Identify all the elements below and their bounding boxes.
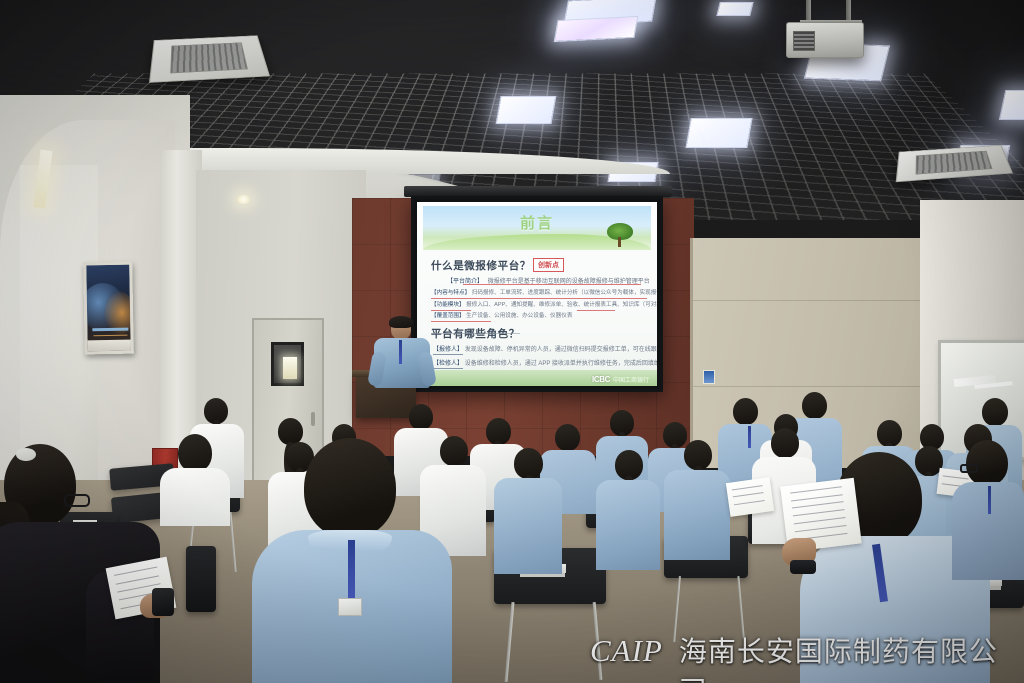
torso — [664, 470, 730, 560]
audience-member — [664, 440, 730, 560]
torso — [160, 468, 230, 526]
slide-footer-bar: ICBC 中国工商银行 — [417, 370, 657, 386]
head — [409, 404, 433, 430]
audience-member — [596, 450, 660, 570]
framed-poster — [83, 262, 134, 355]
lanyard — [748, 426, 751, 448]
slide-callout-badge: 创新点 — [533, 258, 564, 272]
head — [304, 438, 396, 538]
slide-role-line: 【报修人】 发现设备故障、停机异常的人员，通过微信扫码提交报修工单，可在线跟踪处… — [433, 344, 657, 353]
door-vision-panel — [271, 342, 304, 386]
phone-device[interactable] — [152, 588, 174, 616]
slide-heading-2: 平台有哪些角色？ — [431, 326, 520, 341]
audience-member — [160, 434, 230, 526]
slide-banner-title: 前言 — [520, 212, 554, 233]
head — [178, 434, 212, 472]
presenter-lanyard — [399, 340, 402, 364]
handout-paper[interactable] — [726, 477, 774, 517]
slide-content: 前言 什么是微报修平台？ 创新点 【平台简介】 微报修平台是基于移动互联网的设备… — [417, 202, 657, 386]
slide-body-line: 【内容与特点】 扫码报修、工单流转、进度跟踪、统计分析（以微信公众号为载体，实现… — [431, 290, 657, 296]
slide-body-text: 生产设备、公用设施、办公设备、仪器仪表 — [466, 313, 572, 319]
torso — [494, 478, 562, 574]
slide-body-mark: 【功能模块】 — [431, 302, 465, 308]
slide-role-name: 【检修人】 — [433, 361, 463, 369]
head — [555, 424, 580, 451]
chair[interactable] — [186, 546, 216, 612]
presenter — [372, 318, 432, 388]
ac-cassette-unit — [149, 35, 270, 83]
watermark-chinese: 海南长安国际制药有限公司 — [679, 630, 1024, 683]
poster-text-block — [92, 328, 128, 332]
watermark-latin: CAIP — [590, 633, 663, 669]
lanyard — [988, 486, 991, 514]
ac-grille — [170, 42, 249, 73]
badge — [338, 598, 362, 616]
slide-body-mark: 【覆盖范围】 — [431, 313, 465, 319]
head — [982, 398, 1008, 426]
audience-member-right-edge — [952, 440, 1024, 580]
slide-underline — [431, 321, 491, 322]
poster-caption-bar — [88, 340, 131, 352]
presenter-hair — [389, 316, 413, 328]
hair-tie-icon — [16, 448, 36, 461]
slide-body-text: 扫码报修、工单流转、进度跟踪、统计分析（以微信公众号为载体，实现报修、派单、维修… — [472, 290, 657, 296]
slide-banner: 前言 — [423, 206, 651, 250]
projector-lens — [793, 31, 815, 51]
slide-underline — [463, 284, 641, 285]
eyeglasses-icon — [64, 494, 90, 507]
slide-heading-1: 什么是微报修平台？ — [431, 258, 531, 273]
slide-underline — [577, 310, 615, 311]
slide-role-name: 【报修人】 — [433, 347, 463, 355]
slide-logo: ICBC 中国工商银行 — [592, 375, 649, 384]
head — [966, 440, 1008, 486]
slide-body-text: 报修入口、APP、通知提醒、维修派单、验收、统计报表工具、知识库（可对接 OA、… — [466, 302, 657, 308]
slide-logo-chinese: 中国工商银行 — [613, 375, 649, 384]
watermark: CAIP 海南长安国际制药有限公司 — [590, 630, 1024, 683]
slide-underline — [431, 298, 647, 299]
whiteboard-marking — [954, 375, 997, 387]
audience-member — [494, 448, 562, 574]
downlight-icon — [237, 195, 250, 204]
slide-body-line: 【覆盖范围】 生产设备、公用设施、办公设备、仪器仪表 — [431, 313, 572, 319]
wristwatch — [790, 560, 816, 574]
slide-body-mark: 【内容与特点】 — [431, 290, 470, 296]
head — [733, 398, 758, 425]
head — [771, 428, 799, 458]
projection-screen: 前言 什么是微报修平台？ 创新点 【平台简介】 微报修平台是基于移动互联网的设备… — [411, 196, 663, 392]
slide-role-line: 【检修人】 设备维修和检修人员，通过 APP 接收派单并执行维修任务，完成后回填… — [433, 358, 657, 367]
recessed-light-panel — [554, 16, 639, 42]
slide-role-desc: 设备维修和检修人员，通过 APP 接收派单并执行维修任务，完成后回填维修记录及用… — [465, 361, 657, 367]
lanyard — [348, 540, 355, 602]
panel-seam — [693, 386, 925, 387]
eyeglasses-icon — [960, 464, 978, 473]
slide-logo-mark: ICBC — [592, 375, 610, 384]
audience-member-foreground-center — [252, 438, 452, 683]
slide-role-desc: 发现设备故障、停机异常的人员，通过微信扫码提交报修工单，可在线跟踪处理进度 — [465, 347, 657, 353]
torso — [596, 480, 660, 570]
ac-grille — [916, 151, 992, 175]
recessed-light-panel — [716, 2, 753, 16]
wall-sign-icon — [703, 370, 715, 384]
panel-seam — [693, 300, 925, 301]
recessed-light-panel — [685, 118, 752, 148]
photo-scene: 前言 什么是微报修平台？ 创新点 【平台简介】 微报修平台是基于移动互联网的设备… — [0, 0, 1024, 683]
tree-icon — [607, 223, 633, 247]
ceiling-projector — [786, 22, 864, 58]
slide-body-line: 【功能模块】 报修入口、APP、通知提醒、维修派单、验收、统计报表工具、知识库（… — [431, 302, 657, 308]
slide-underline — [431, 310, 471, 311]
